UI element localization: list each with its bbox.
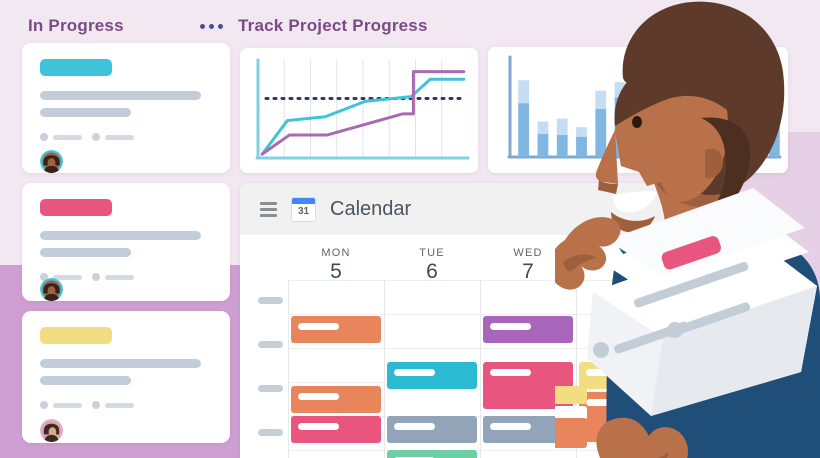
calendar-event[interactable] xyxy=(291,416,381,443)
held-card-edges xyxy=(555,386,587,448)
calendar-day-name: TUE xyxy=(384,247,480,259)
task-card[interactable] xyxy=(22,311,230,443)
person-eye xyxy=(632,116,642,128)
calendar-event[interactable] xyxy=(387,416,477,443)
page-title-track-project: Track Project Progress xyxy=(238,16,428,36)
calendar-event-title xyxy=(394,423,435,430)
calendar-title: Calendar xyxy=(330,198,411,221)
calendar-day-header[interactable]: MON5 xyxy=(288,247,384,284)
calendar-event-title xyxy=(490,423,531,430)
google-calendar-icon: 31 xyxy=(291,197,316,222)
calendar-day-name: MON xyxy=(288,247,384,259)
illustration-canvas: In Progress Track Project Progress xyxy=(0,0,820,458)
calendar-day-number: 5 xyxy=(288,260,384,284)
calendar-event-title xyxy=(298,393,339,400)
calendar-time-label xyxy=(258,341,283,348)
task-line-secondary xyxy=(40,376,131,385)
person-mouth xyxy=(613,191,657,212)
calendar-event[interactable] xyxy=(291,316,381,343)
calendar-column-divider xyxy=(384,280,385,458)
progress-step-chart xyxy=(240,48,478,173)
task-meta-item xyxy=(92,401,134,409)
task-tag xyxy=(40,59,112,76)
task-line-primary xyxy=(40,91,201,100)
task-line-secondary xyxy=(40,248,131,257)
calendar-column-divider xyxy=(288,280,289,458)
avatar[interactable] xyxy=(40,419,63,442)
task-line-primary xyxy=(40,359,201,368)
calendar-day-header[interactable]: TUE6 xyxy=(384,247,480,284)
task-tag xyxy=(40,327,112,344)
calendar-event[interactable] xyxy=(291,386,381,413)
calendar-event-title xyxy=(298,423,339,430)
calendar-event-title xyxy=(394,369,435,376)
task-card[interactable] xyxy=(22,183,230,301)
calendar-event[interactable] xyxy=(387,362,477,389)
calendar-time-label xyxy=(258,385,283,392)
calendar-icon-day: 31 xyxy=(292,204,315,220)
hamburger-menu-icon[interactable] xyxy=(260,202,277,217)
calendar-event-title xyxy=(298,323,339,330)
task-line-secondary xyxy=(40,108,131,117)
person-hand-upper xyxy=(555,217,621,289)
task-meta-item xyxy=(40,401,82,409)
avatar[interactable] xyxy=(40,278,63,301)
avatar[interactable] xyxy=(40,150,63,173)
task-meta-item xyxy=(92,133,134,141)
calendar-time-label xyxy=(258,297,283,304)
step-chart-svg xyxy=(240,48,478,173)
task-meta-item xyxy=(92,273,134,281)
task-card[interactable] xyxy=(22,43,230,173)
calendar-time-label xyxy=(258,429,283,436)
page-title-in-progress: In Progress xyxy=(28,16,124,36)
task-tag xyxy=(40,199,112,216)
task-line-primary xyxy=(40,231,201,240)
more-options-icon[interactable] xyxy=(200,24,223,29)
calendar-event[interactable] xyxy=(387,450,477,458)
person-illustration xyxy=(555,0,820,458)
calendar-event-title xyxy=(490,323,531,330)
task-meta-item xyxy=(40,133,82,141)
calendar-day-number: 6 xyxy=(384,260,480,284)
calendar-event-title xyxy=(490,369,531,376)
calendar-column-divider xyxy=(480,280,481,458)
